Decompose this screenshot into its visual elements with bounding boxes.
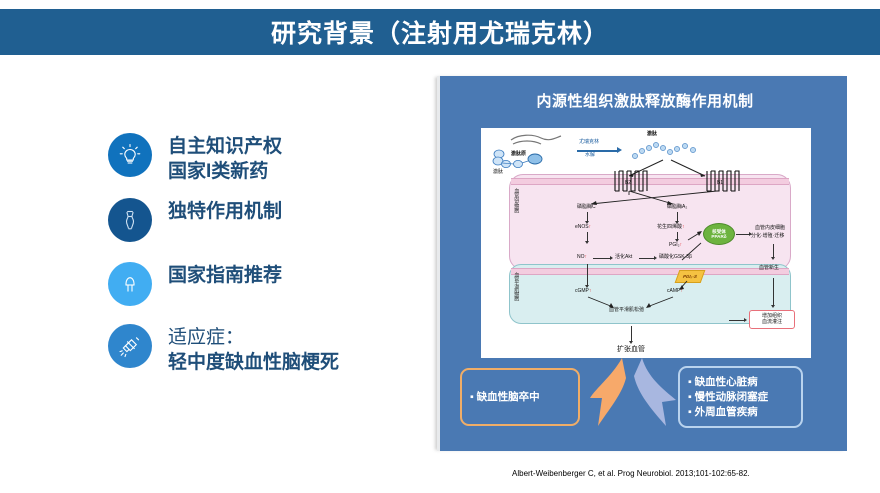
mechanism-diagram-panel: 内源性组织激肽释放酶作用机制 血管内皮细胞 血管平滑肌细胞 激 bbox=[437, 76, 847, 451]
hydrolysis-arrowhead bbox=[617, 147, 622, 153]
cgmp-label: cGMP↑ bbox=[575, 289, 591, 294]
bullet-line-1: 适应症： bbox=[168, 325, 339, 350]
outcome-other-label-3: ▪ 外周血管疾病 bbox=[688, 405, 793, 420]
receptor-b2-icon: B2 bbox=[611, 170, 655, 192]
bullet-item-indication[interactable]: 适应症： 轻中度缺血性脑梗死 bbox=[108, 324, 438, 375]
akt-gsk-arrow bbox=[639, 258, 655, 259]
kininogen-label: 激肽原 bbox=[511, 152, 526, 157]
pla2-label: 磷脂酶A₂ bbox=[667, 205, 687, 210]
bullet-line-1: 独特作用机制 bbox=[168, 199, 282, 224]
perfusion-line-2: 血流灌注 bbox=[753, 319, 791, 325]
molecule-icon bbox=[108, 198, 152, 242]
hydrolysis-label: 水解 bbox=[585, 153, 595, 158]
outcome-box-stroke[interactable]: ▪ 缺血性脑卒中 bbox=[460, 368, 580, 426]
endo-angio-arrow bbox=[773, 244, 774, 258]
angiogenesis-label: 血管新生 bbox=[759, 266, 779, 271]
perfusion-box: 增加组织 血流灌注 bbox=[749, 310, 795, 329]
angio-perfusion-arrow bbox=[773, 278, 774, 306]
relaxation-label: 血管平滑肌松弛 bbox=[609, 308, 644, 313]
vasodilation-perfusion-arrow bbox=[729, 320, 745, 321]
kinin-small-label: 激肽 bbox=[493, 170, 503, 175]
akt-gsk-arrowhead bbox=[654, 256, 657, 260]
lightbulb-icon bbox=[108, 133, 152, 177]
syringe-icon bbox=[108, 324, 152, 368]
bullet-line-2: 轻中度缺血性脑梗死 bbox=[168, 350, 339, 375]
relax-vasodilation-arrow bbox=[631, 326, 632, 342]
membrane-bar-mid bbox=[511, 268, 789, 275]
angio-perfusion-arrowhead bbox=[771, 305, 775, 308]
bullet-label-indication: 适应症： 轻中度缺血性脑梗死 bbox=[168, 324, 339, 375]
outcome-other-label-2: ▪ 慢性动脉闭塞症 bbox=[688, 390, 793, 405]
page-title: 研究背景（注射用尤瑞克林） bbox=[271, 14, 609, 50]
receptor-crossing-arrows bbox=[577, 190, 727, 206]
pgi2s-camp-arrow bbox=[677, 280, 691, 292]
arachidonic-label: 花生四烯酸↑ bbox=[657, 225, 685, 230]
smooth-muscle-vertical-label: 血管平滑肌细胞 bbox=[513, 272, 518, 300]
slide-canvas: 研究背景（注射用尤瑞克林） 自主知 bbox=[0, 0, 880, 493]
slide-title-bar: 研究背景（注射用尤瑞克林） bbox=[0, 9, 880, 55]
citation-text: Albert-Weibenberger C, et al. Prog Neuro… bbox=[512, 469, 750, 478]
enos-no-arrowhead bbox=[585, 241, 589, 244]
pgi2-to-nuclear-arrow bbox=[679, 240, 707, 262]
endothelium-vertical-label: 血管内皮细胞 bbox=[513, 188, 518, 212]
capsule-icon bbox=[108, 262, 152, 306]
bullet-line-1: 自主知识产权 bbox=[168, 134, 282, 159]
blue-flow-arrow bbox=[626, 358, 684, 430]
bullet-label-mechanism: 独特作用机制 bbox=[168, 198, 282, 224]
endo-angio-arrowhead bbox=[771, 257, 775, 260]
bullet-label-guideline: 国家指南推荐 bbox=[168, 262, 282, 288]
bullet-line-2: 国家I类新药 bbox=[168, 159, 282, 184]
nuclear-receptor-node: 核受体 PPARδ bbox=[703, 223, 735, 245]
no-akt-arrow bbox=[593, 258, 611, 259]
bullet-label-ip: 自主知识产权 国家I类新药 bbox=[168, 133, 282, 184]
hydrolysis-arrow-line bbox=[577, 150, 617, 152]
outcome-other-label-1: ▪ 缺血性心脏病 bbox=[688, 375, 793, 390]
receptor-b1-icon: B1 bbox=[703, 170, 747, 192]
enos-label: eNOS↑ bbox=[575, 225, 591, 230]
endo-diff-label-2: 分化·增殖·迁移 bbox=[751, 234, 784, 239]
relax-vasodilation-arrowhead bbox=[629, 341, 633, 344]
plc-label: 磷脂酶C bbox=[577, 205, 596, 210]
endo-diff-label-1: 血管内皮细胞 bbox=[755, 226, 785, 231]
vasodilation-label: 扩张血管 bbox=[617, 346, 645, 353]
bullet-line-1: 国家指南推荐 bbox=[168, 263, 282, 288]
no-label: NO↑ bbox=[577, 255, 587, 260]
enzyme-label: 尤瑞克林 bbox=[579, 140, 599, 145]
nuclear-to-endo-arrow bbox=[736, 234, 750, 235]
outcome-stroke-label: ▪ 缺血性脑卒中 bbox=[470, 390, 540, 405]
bullet-item-ip[interactable]: 自主知识产权 国家I类新药 bbox=[108, 133, 438, 184]
diagram-schematic: 血管内皮细胞 血管平滑肌细胞 激肽原 激肽 尤瑞克林 水解 激 bbox=[481, 128, 811, 358]
outcome-box-other[interactable]: ▪ 缺血性心脏病 ▪ 慢性动脉闭塞症 ▪ 外周血管疾病 bbox=[678, 366, 803, 428]
akt-label: 活化Akt bbox=[615, 255, 632, 260]
vasodilation-perfusion-arrowhead bbox=[744, 318, 747, 322]
bullet-item-guideline[interactable]: 国家指南推荐 bbox=[108, 262, 438, 306]
bullet-item-mechanism[interactable]: 独特作用机制 bbox=[108, 198, 438, 242]
svg-text:B1: B1 bbox=[717, 180, 723, 186]
no-cgmp-arrow bbox=[587, 264, 588, 286]
no-akt-arrowhead bbox=[610, 256, 613, 260]
kinin-top-label: 激肽 bbox=[647, 132, 657, 137]
feature-bullet-list: 自主知识产权 国家I类新药 独特作用机制 bbox=[108, 133, 438, 387]
svg-text:B2: B2 bbox=[625, 180, 631, 186]
diagram-title: 内源性组织激肽释放酶作用机制 bbox=[440, 90, 850, 111]
